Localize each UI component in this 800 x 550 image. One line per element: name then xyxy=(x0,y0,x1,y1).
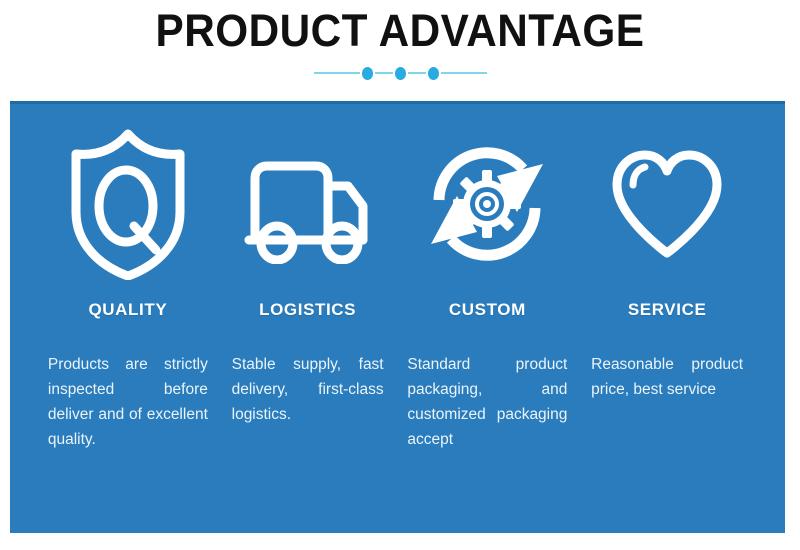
divider-line-mid-1 xyxy=(375,72,393,74)
column-body: Stable supply, fast delivery, first-clas… xyxy=(232,352,384,427)
page-title: PRODUCT ADVANTAGE xyxy=(24,6,776,56)
heart-icon xyxy=(609,104,725,304)
divider-line-right xyxy=(441,72,487,74)
divider-line-mid-2 xyxy=(408,72,426,74)
advantage-column-custom: CUSTOM Standard product packaging, and c… xyxy=(398,104,578,536)
column-title: QUALITY xyxy=(88,300,167,320)
column-body: Reasonable product price, best service xyxy=(591,352,743,402)
column-body: Standard product packaging, and customiz… xyxy=(407,352,567,452)
divider-dot-1 xyxy=(362,67,373,80)
advantage-column-service: SERVICE Reasonable product price, best s… xyxy=(577,104,757,536)
advantage-panel: QUALITY Products are strictly inspected … xyxy=(10,101,785,533)
shield-q-icon xyxy=(66,104,190,304)
delivery-truck-icon xyxy=(244,104,372,304)
decorative-divider xyxy=(0,63,800,83)
advantage-columns: QUALITY Products are strictly inspected … xyxy=(10,104,785,536)
divider-dot-2 xyxy=(395,67,406,80)
gear-cycle-icon xyxy=(425,104,549,304)
divider-dot-3 xyxy=(428,67,439,80)
divider-line-left xyxy=(314,72,360,74)
column-title: LOGISTICS xyxy=(259,300,356,320)
page-header: PRODUCT ADVANTAGE xyxy=(0,0,800,100)
advantage-column-logistics: LOGISTICS Stable supply, fast delivery, … xyxy=(218,104,398,536)
column-title: CUSTOM xyxy=(449,300,526,320)
advantage-column-quality: QUALITY Products are strictly inspected … xyxy=(38,104,218,536)
column-body: Products are strictly inspected before d… xyxy=(48,352,208,452)
column-title: SERVICE xyxy=(628,300,707,320)
